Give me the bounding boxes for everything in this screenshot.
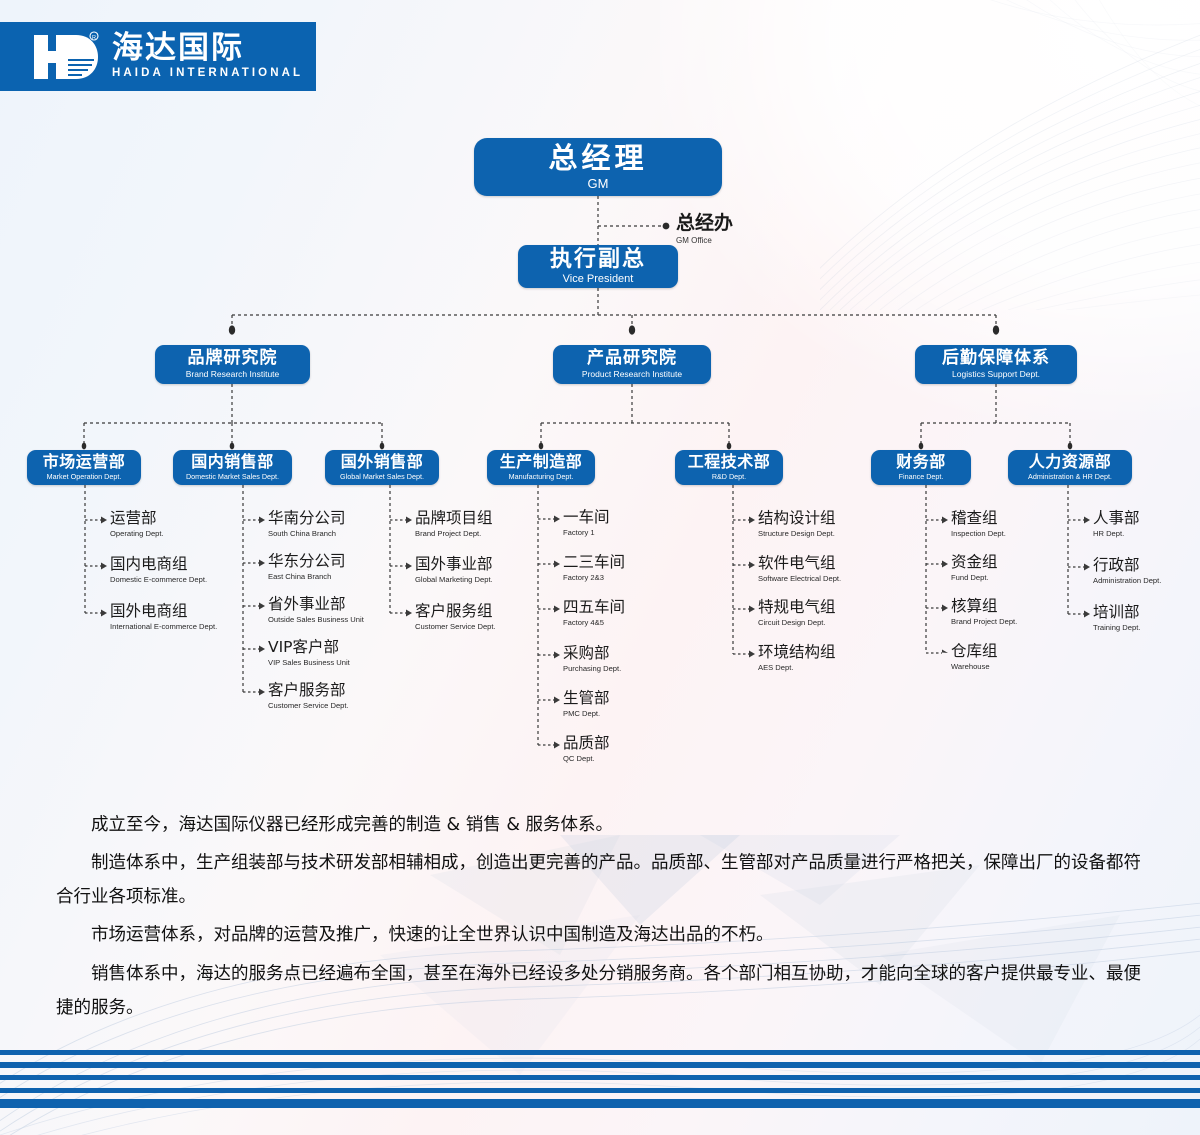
org-leaf-item[interactable]: 核算组 Brand Project Dept.: [951, 599, 1017, 625]
org-node-product-research-institute-label-cn: 产品研究院: [587, 350, 677, 368]
brand-logo-bar: R 海达国际 HAIDA INTERNATIONAL: [0, 22, 316, 91]
org-node-product-research-institute[interactable]: 产品研究院 Product Research Institute: [553, 345, 711, 384]
org-node-hr-dept-label-en: Administration & HR Dept.: [1028, 473, 1112, 481]
org-leaf-label-cn: 华东分公司: [268, 554, 346, 570]
org-leaf-label-en: Circuit Design Dept.: [758, 619, 836, 627]
org-node-brand-research-institute[interactable]: 品牌研究院 Brand Research Institute: [155, 345, 310, 384]
org-leaf-label-cn: 仓库组: [951, 644, 998, 660]
org-node-finance-dept-label-cn: 财务部: [896, 454, 946, 471]
brand-logo-text: 海达国际 HAIDA INTERNATIONAL: [112, 33, 303, 80]
org-leaf-label-cn: 省外事业部: [268, 597, 364, 613]
org-leaf-label-en: Domestic E-commerce Dept.: [110, 576, 207, 584]
brand-name-en: HAIDA INTERNATIONAL: [112, 68, 303, 80]
org-leaf-label-en: Inspection Dept.: [951, 530, 1006, 538]
org-leaf-label-cn: 国内电商组: [110, 557, 207, 573]
svg-text:R: R: [92, 35, 96, 41]
org-leaf-item[interactable]: VIP客户部 VIP Sales Business Unit: [268, 640, 350, 666]
org-leaf-label-en: Purchasing Dept.: [563, 665, 621, 673]
footer-bar-1: [0, 1050, 1200, 1055]
org-leaf-item[interactable]: 客户服务部 Customer Service Dept.: [268, 683, 349, 709]
org-leaf-label-cn: 稽查组: [951, 511, 1006, 527]
org-leaf-item[interactable]: 国外事业部 Global Marketing Dept.: [415, 557, 493, 583]
org-node-gm-office-label-cn: 总经办: [676, 214, 733, 233]
footer-bar-2: [0, 1062, 1200, 1068]
org-node-gm-office-label-en: GM Office: [676, 236, 733, 245]
org-leaf-label-cn: 华南分公司: [268, 511, 346, 527]
org-node-gm-office[interactable]: 总经办 GM Office: [676, 214, 733, 245]
org-leaf-label-en: Administration Dept.: [1093, 577, 1161, 585]
org-leaf-label-en: Structure Design Dept.: [758, 530, 836, 538]
org-node-domestic-sales-dept-label-en: Domestic Market Sales Dept.: [186, 473, 279, 481]
org-node-domestic-sales-dept-label-cn: 国内销售部: [191, 454, 274, 471]
org-leaf-label-cn: 环境结构组: [758, 645, 836, 661]
org-leaf-label-en: Software Electrical Dept.: [758, 575, 841, 583]
org-node-logistics-support[interactable]: 后勤保障体系 Logistics Support Dept.: [915, 345, 1077, 384]
org-leaf-label-cn: 四五车间: [563, 600, 625, 616]
org-node-rd-dept-label-cn: 工程技术部: [688, 454, 771, 471]
description-text: 成立至今，海达国际仪器已经形成完善的制造 & 销售 & 服务体系。 制造体系中，…: [56, 808, 1146, 1029]
org-node-gm-label-en: GM: [588, 177, 609, 191]
org-leaf-label-cn: 国外电商组: [110, 604, 217, 620]
footer-bar-3: [0, 1075, 1200, 1080]
org-leaf-label-cn: 软件电气组: [758, 556, 841, 572]
org-node-market-operation-dept-label-en: Market Operation Dept.: [47, 473, 122, 481]
footer-bar-5: [0, 1099, 1200, 1108]
org-leaf-label-en: East China Branch: [268, 573, 346, 581]
description-paragraph-1: 成立至今，海达国际仪器已经形成完善的制造 & 销售 & 服务体系。: [56, 808, 1146, 842]
org-leaf-label-en: Brand Project Dept.: [415, 530, 493, 538]
org-leaf-item[interactable]: 二三车间 Factory 2&3: [563, 555, 625, 581]
org-leaf-label-en: Factory 1: [563, 529, 610, 537]
org-node-gm-label-cn: 总经理: [548, 143, 647, 173]
org-leaf-item[interactable]: 品质部 QC Dept.: [563, 736, 610, 762]
org-node-market-operation-dept[interactable]: 市场运营部 Market Operation Dept.: [27, 450, 141, 485]
org-leaf-label-cn: 结构设计组: [758, 511, 836, 527]
description-paragraph-3: 市场运营体系，对品牌的运营及推广，快速的让全世界认识中国制造及海达出品的不朽。: [56, 918, 1146, 952]
org-leaf-item[interactable]: 运营部 Operating Dept.: [110, 511, 164, 537]
org-leaf-item[interactable]: 省外事业部 Outside Sales Business Unit: [268, 597, 364, 623]
org-leaf-label-en: Factory 2&3: [563, 574, 625, 582]
org-leaf-item[interactable]: 四五车间 Factory 4&5: [563, 600, 625, 626]
org-leaf-label-en: PMC Dept.: [563, 710, 610, 718]
org-leaf-label-en: Fund Dept.: [951, 574, 998, 582]
org-leaf-label-en: AES Dept.: [758, 664, 836, 672]
org-leaf-item[interactable]: 生管部 PMC Dept.: [563, 691, 610, 717]
org-leaf-item[interactable]: 行政部 Administration Dept.: [1093, 558, 1161, 584]
org-leaf-item[interactable]: 人事部 HR Dept.: [1093, 511, 1140, 537]
description-paragraph-2: 制造体系中，生产组装部与技术研发部相辅相成，创造出更完善的产品。品质部、生管部对…: [56, 846, 1146, 914]
org-leaf-label-cn: 核算组: [951, 599, 1017, 615]
org-node-logistics-support-label-en: Logistics Support Dept.: [952, 370, 1040, 379]
org-leaf-label-cn: 培训部: [1093, 605, 1140, 621]
org-leaf-label-en: Outside Sales Business Unit: [268, 616, 364, 624]
org-leaf-label-en: VIP Sales Business Unit: [268, 659, 350, 667]
org-leaf-label-en: Customer Service Dept.: [268, 702, 349, 710]
org-node-brand-research-institute-label-en: Brand Research Institute: [186, 370, 280, 379]
org-node-finance-dept[interactable]: 财务部 Finance Dept.: [871, 450, 971, 485]
org-leaf-item[interactable]: 特规电气组 Circuit Design Dept.: [758, 600, 836, 626]
org-leaf-item[interactable]: 培训部 Training Dept.: [1093, 605, 1140, 631]
org-leaf-label-en: Operating Dept.: [110, 530, 164, 538]
org-node-global-sales-dept-label-en: Global Market Sales Dept.: [340, 473, 424, 481]
org-leaf-label-cn: 人事部: [1093, 511, 1140, 527]
org-node-manufacturing-dept-label-en: Manufacturing Dept.: [509, 473, 574, 481]
org-leaf-item[interactable]: 软件电气组 Software Electrical Dept.: [758, 556, 841, 582]
org-node-manufacturing-dept-label-cn: 生产制造部: [500, 454, 583, 471]
description-paragraph-4: 销售体系中，海达的服务点已经遍布全国，甚至在海外已经设多处分销服务商。各个部门相…: [56, 957, 1146, 1025]
org-node-market-operation-dept-label-cn: 市场运营部: [43, 454, 126, 471]
org-leaf-label-cn: 生管部: [563, 691, 610, 707]
org-leaf-label-en: Warehouse: [951, 663, 998, 671]
org-leaf-item[interactable]: 国外电商组 International E-commerce Dept.: [110, 604, 217, 630]
footer-stripe-bars: [0, 1040, 1200, 1135]
org-node-global-sales-dept[interactable]: 国外销售部 Global Market Sales Dept.: [325, 450, 439, 485]
org-node-manufacturing-dept[interactable]: 生产制造部 Manufacturing Dept.: [487, 450, 595, 485]
org-leaf-label-cn: 资金组: [951, 555, 998, 571]
org-leaf-label-cn: 品质部: [563, 736, 610, 752]
org-node-vice-president-label-cn: 执行副总: [550, 248, 646, 271]
haida-h-logo-icon: R: [30, 29, 102, 85]
org-leaf-label-cn: 一车间: [563, 510, 610, 526]
org-node-hr-dept[interactable]: 人力资源部 Administration & HR Dept.: [1008, 450, 1132, 485]
org-leaf-label-en: Global Marketing Dept.: [415, 576, 493, 584]
footer-bar-4: [0, 1088, 1200, 1093]
org-leaf-label-cn: 二三车间: [563, 555, 625, 571]
org-leaf-item[interactable]: 结构设计组 Structure Design Dept.: [758, 511, 836, 537]
org-leaf-item[interactable]: 华南分公司 South China Branch: [268, 511, 346, 537]
org-leaf-label-cn: VIP客户部: [268, 640, 350, 656]
org-leaf-label-cn: 品牌项目组: [415, 511, 493, 527]
org-leaf-label-cn: 客户服务部: [268, 683, 349, 699]
org-leaf-label-en: South China Branch: [268, 530, 346, 538]
org-leaf-item[interactable]: 一车间 Factory 1: [563, 510, 610, 536]
org-leaf-label-cn: 特规电气组: [758, 600, 836, 616]
org-leaf-item[interactable]: 华东分公司 East China Branch: [268, 554, 346, 580]
brand-name-cn: 海达国际: [112, 33, 303, 64]
org-leaf-item[interactable]: 采购部 Purchasing Dept.: [563, 646, 621, 672]
org-node-vice-president-label-en: Vice President: [563, 274, 634, 286]
org-node-brand-research-institute-label-cn: 品牌研究院: [188, 350, 278, 368]
org-leaf-label-en: Customer Service Dept.: [415, 623, 496, 631]
org-leaf-item[interactable]: 环境结构组 AES Dept.: [758, 645, 836, 671]
org-node-gm[interactable]: 总经理 GM: [474, 138, 722, 196]
org-leaf-label-en: Training Dept.: [1093, 624, 1140, 632]
org-leaf-label-en: QC Dept.: [563, 755, 610, 763]
org-leaf-label-en: Factory 4&5: [563, 619, 625, 627]
org-leaf-item[interactable]: 国内电商组 Domestic E-commerce Dept.: [110, 557, 207, 583]
org-leaf-label-en: HR Dept.: [1093, 530, 1140, 538]
org-leaf-item[interactable]: 客户服务组 Customer Service Dept.: [415, 604, 496, 630]
org-node-rd-dept[interactable]: 工程技术部 R&D Dept.: [675, 450, 783, 485]
org-leaf-item[interactable]: 品牌项目组 Brand Project Dept.: [415, 511, 493, 537]
org-leaf-item[interactable]: 稽查组 Inspection Dept.: [951, 511, 1006, 537]
org-chart-connectors: [0, 0, 1200, 800]
org-node-hr-dept-label-cn: 人力资源部: [1029, 454, 1112, 471]
org-leaf-label-cn: 运营部: [110, 511, 164, 527]
org-leaf-label-en: International E-commerce Dept.: [110, 623, 217, 631]
org-node-global-sales-dept-label-cn: 国外销售部: [341, 454, 424, 471]
org-leaf-label-cn: 采购部: [563, 646, 621, 662]
org-leaf-label-cn: 客户服务组: [415, 604, 496, 620]
org-node-vice-president[interactable]: 执行副总 Vice President: [518, 245, 678, 288]
org-node-product-research-institute-label-en: Product Research Institute: [582, 370, 682, 379]
org-leaf-label-en: Brand Project Dept.: [951, 618, 1017, 626]
org-node-rd-dept-label-en: R&D Dept.: [712, 473, 746, 481]
org-leaf-item[interactable]: 仓库组 Warehouse: [951, 644, 998, 670]
org-node-domestic-sales-dept[interactable]: 国内销售部 Domestic Market Sales Dept.: [173, 450, 292, 485]
org-leaf-label-cn: 行政部: [1093, 558, 1161, 574]
org-node-logistics-support-label-cn: 后勤保障体系: [942, 350, 1050, 368]
org-node-finance-dept-label-en: Finance Dept.: [899, 473, 944, 481]
org-leaf-item[interactable]: 资金组 Fund Dept.: [951, 555, 998, 581]
org-leaf-label-cn: 国外事业部: [415, 557, 493, 573]
